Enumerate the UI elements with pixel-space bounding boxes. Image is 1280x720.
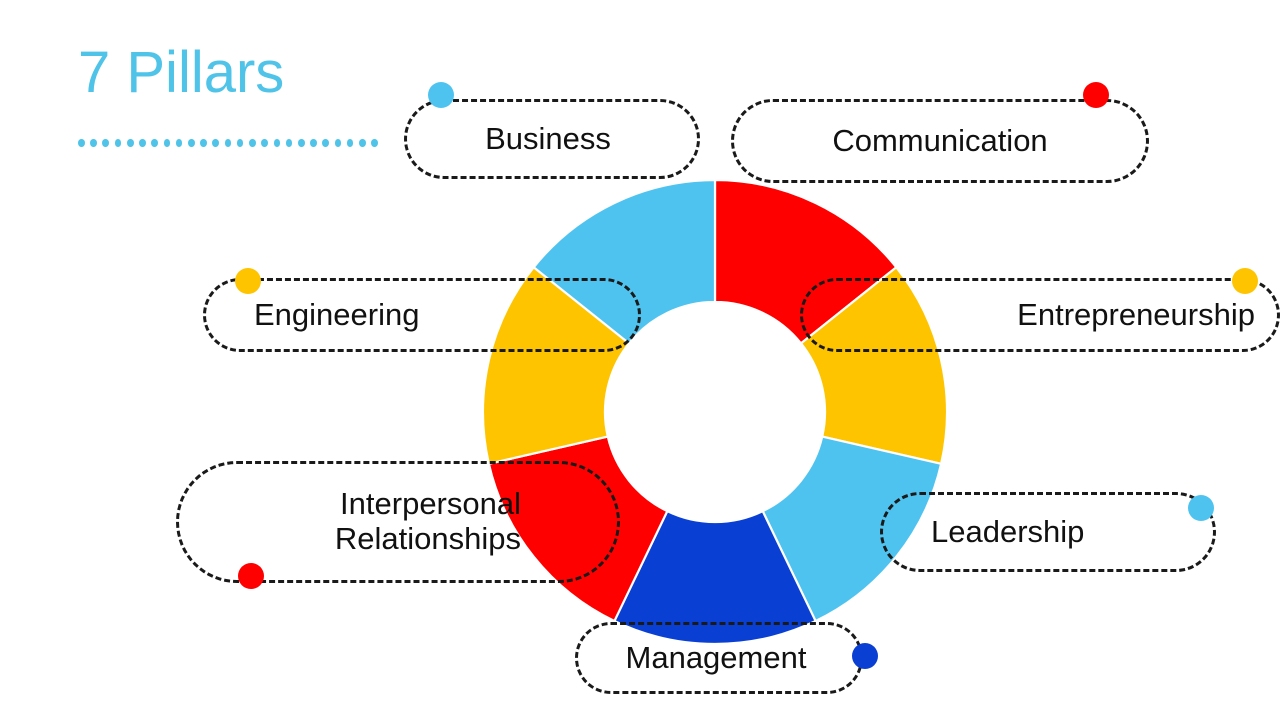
callout-communication-label: Communication — [832, 124, 1047, 159]
callout-entrepreneurship-dot-icon — [1232, 268, 1258, 294]
callout-leadership-dot-icon — [1188, 495, 1214, 521]
callout-communication-dot-icon — [1083, 82, 1109, 108]
callout-business-dot-icon — [428, 82, 454, 108]
title-rule-dot — [188, 139, 195, 147]
callout-communication[interactable]: Communication — [731, 99, 1149, 183]
title-rule-dot — [261, 139, 268, 147]
callout-interpersonal-relationships-dot-icon — [238, 563, 264, 589]
callout-business-label: Business — [485, 122, 611, 157]
title-rule-dot — [212, 139, 219, 147]
title-rule-dot — [176, 139, 183, 147]
callout-engineering[interactable]: Engineering — [203, 278, 641, 352]
title-block: 7 Pillars — [78, 44, 418, 147]
title-rule-dot — [90, 139, 97, 147]
title-rule-dot — [322, 139, 329, 147]
callout-entrepreneurship-label: Entrepreneurship — [1017, 298, 1255, 333]
title-rule-dot — [115, 139, 122, 147]
callout-interpersonal-relationships-label: Interpersonal Relationships — [335, 487, 521, 556]
slide-canvas: 7 Pillars Business Communication Enginee… — [0, 0, 1280, 720]
title-rule-dot — [274, 139, 281, 147]
title-rule-dot — [127, 139, 134, 147]
title-rule-dot — [237, 139, 244, 147]
callout-engineering-label: Engineering — [254, 298, 419, 333]
title-rule-dot — [347, 139, 354, 147]
title-rule-dot — [249, 139, 256, 147]
title-dotted-rule — [78, 139, 378, 147]
title-rule-dot — [139, 139, 146, 147]
callout-management[interactable]: Management — [575, 622, 863, 694]
title-rule-dot — [78, 139, 85, 147]
title-rule-dot — [200, 139, 207, 147]
callout-leadership[interactable]: Leadership — [880, 492, 1216, 572]
callout-engineering-dot-icon — [235, 268, 261, 294]
title-rule-dot — [164, 139, 171, 147]
callout-entrepreneurship[interactable]: Entrepreneurship — [800, 278, 1280, 352]
callout-business[interactable]: Business — [404, 99, 700, 179]
title-rule-dot — [102, 139, 109, 147]
title-rule-dot — [286, 139, 293, 147]
title-rule-dot — [371, 139, 378, 147]
title-rule-dot — [151, 139, 158, 147]
title-rule-dot — [359, 139, 366, 147]
callout-management-label: Management — [626, 641, 807, 676]
callout-management-dot-icon — [852, 643, 878, 669]
callout-leadership-label: Leadership — [931, 515, 1084, 550]
page-title: 7 Pillars — [78, 44, 418, 102]
title-rule-dot — [335, 139, 342, 147]
title-rule-dot — [225, 139, 232, 147]
title-rule-dot — [310, 139, 317, 147]
title-rule-dot — [298, 139, 305, 147]
